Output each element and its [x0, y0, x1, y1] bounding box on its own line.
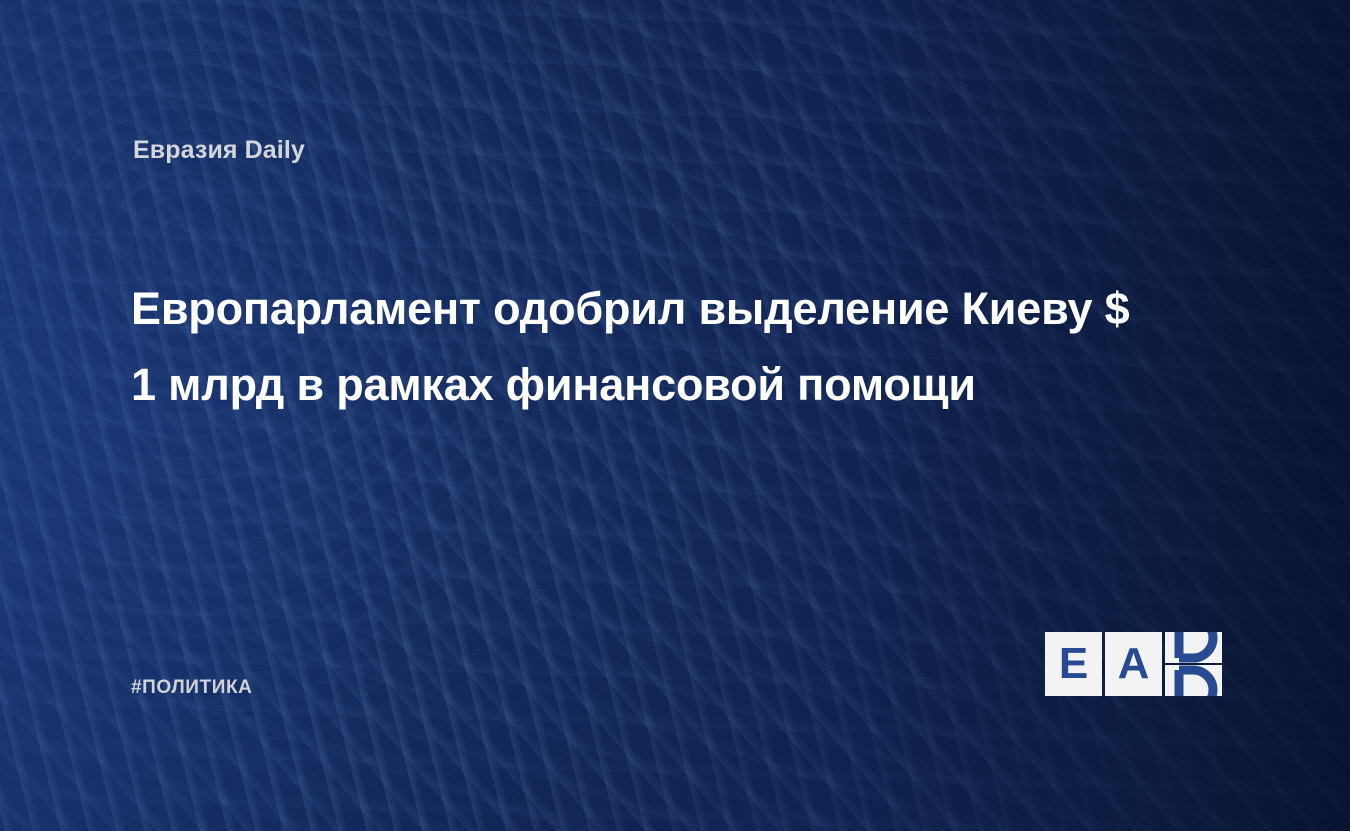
logo-tile-d-top — [1165, 632, 1222, 663]
card-content: Евразия Daily Европарламент одобрил выде… — [0, 0, 1350, 831]
eadaily-logo[interactable]: E A — [1045, 632, 1224, 696]
logo-tile-d-bottom — [1165, 665, 1222, 696]
site-name: Евразия Daily — [133, 136, 305, 165]
category-tag[interactable]: #ПОЛИТИКА — [131, 677, 253, 699]
news-social-card: Евразия Daily Европарламент одобрил выде… — [0, 0, 1350, 831]
page-title: Европарламент одобрил выделение Киеву $ … — [131, 271, 1161, 423]
logo-glyph-d-top — [1165, 632, 1222, 663]
logo-letter-a: A — [1118, 642, 1150, 686]
logo-tile-a: A — [1105, 632, 1162, 696]
logo-tile-stack — [1165, 632, 1222, 696]
logo-letter-e: E — [1059, 642, 1088, 686]
logo-tile-e: E — [1045, 632, 1102, 696]
logo-glyph-d-bottom — [1165, 665, 1222, 696]
